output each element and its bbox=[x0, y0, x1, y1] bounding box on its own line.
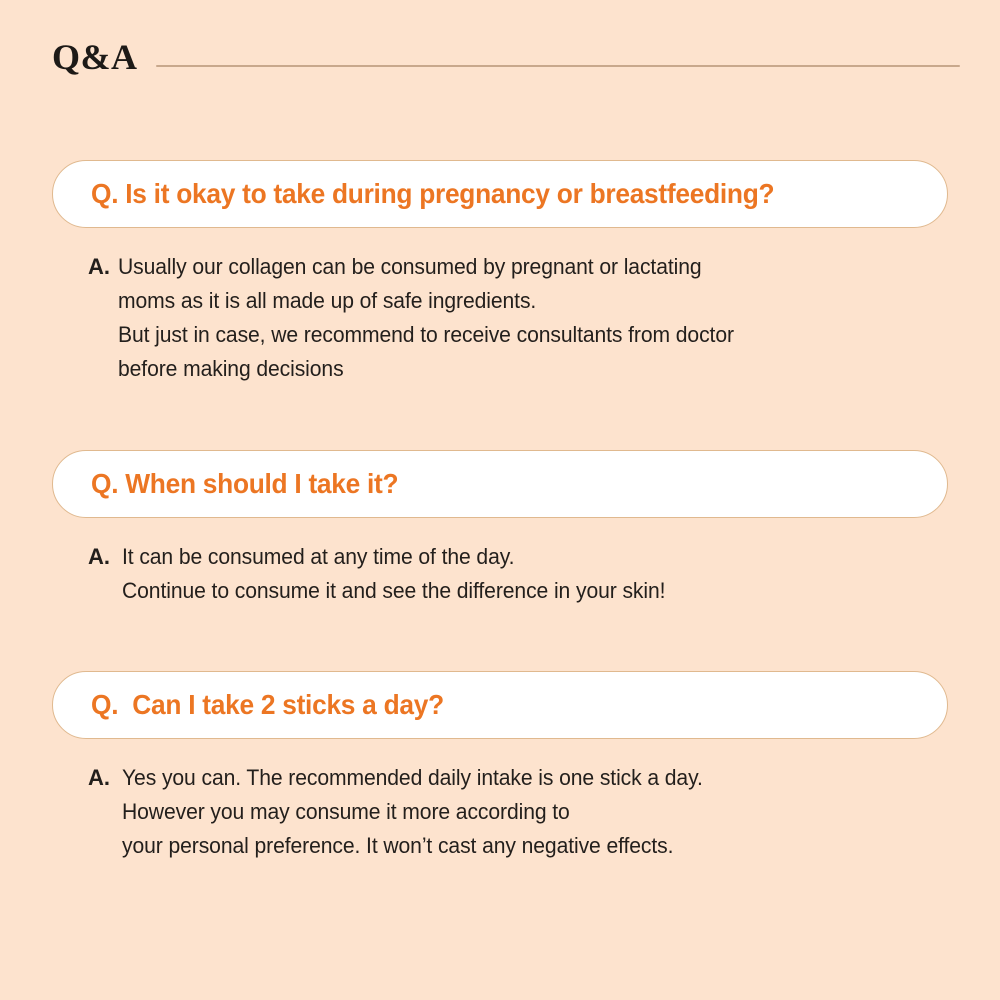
answer-text-1: Usually our collagen can be consumed by … bbox=[118, 250, 734, 386]
header-divider bbox=[156, 65, 961, 67]
answer-text-2: It can be consumed at any time of the da… bbox=[122, 540, 665, 608]
answer-2: A. It can be consumed at any time of the… bbox=[88, 540, 1000, 608]
block-spacer-2 bbox=[0, 608, 1000, 671]
question-pill-1[interactable]: Q. Is it okay to take during pregnancy o… bbox=[52, 160, 948, 228]
answer-text-3: Yes you can. The recommended daily intak… bbox=[122, 761, 703, 863]
block-spacer-1 bbox=[0, 386, 1000, 450]
qa-block-1: Q. Is it okay to take during pregnancy o… bbox=[0, 160, 1000, 386]
question-pill-3[interactable]: Q. Can I take 2 sticks a day? bbox=[52, 671, 948, 739]
answer-marker-1: A. bbox=[88, 250, 110, 284]
page-header: Q&A bbox=[52, 34, 960, 82]
answer-marker-2: A. bbox=[88, 540, 110, 574]
answer-marker-3: A. bbox=[88, 761, 110, 795]
answer-1: A. Usually our collagen can be consumed … bbox=[88, 250, 1000, 386]
qa-page: Q&A Q. Is it okay to take during pregnan… bbox=[0, 0, 1000, 1000]
question-text-1: Q. Is it okay to take during pregnancy o… bbox=[91, 179, 774, 210]
qa-block-2: Q. When should I take it? A. It can be c… bbox=[0, 450, 1000, 608]
question-text-2: Q. When should I take it? bbox=[91, 469, 398, 500]
qa-list: Q. Is it okay to take during pregnancy o… bbox=[0, 160, 1000, 863]
qa-block-3: Q. Can I take 2 sticks a day? A. Yes you… bbox=[0, 671, 1000, 863]
page-title: Q&A bbox=[52, 39, 138, 77]
answer-3: A. Yes you can. The recommended daily in… bbox=[88, 761, 1000, 863]
question-text-3: Q. Can I take 2 sticks a day? bbox=[91, 690, 444, 721]
question-pill-2[interactable]: Q. When should I take it? bbox=[52, 450, 948, 518]
